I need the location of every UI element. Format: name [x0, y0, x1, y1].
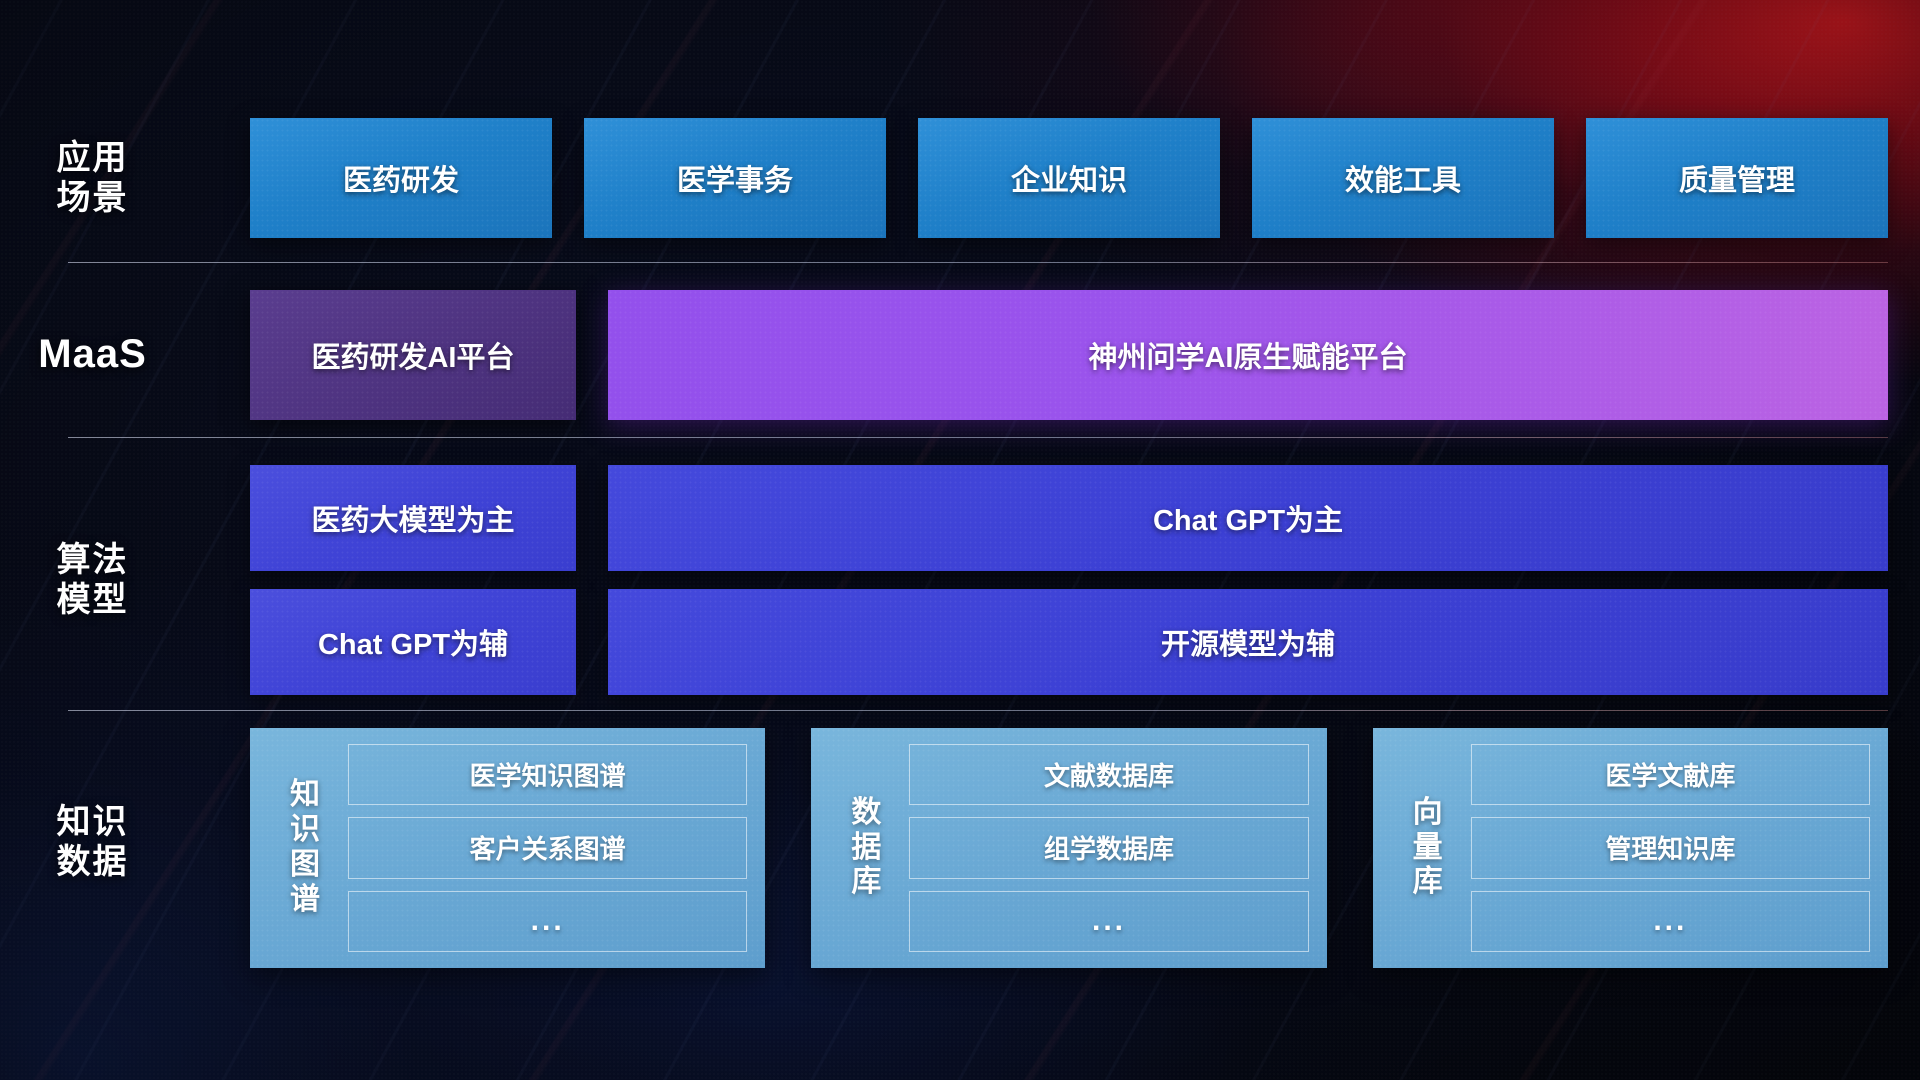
- knowledge-group-database-label: 数 据 库: [829, 744, 903, 952]
- algorithm-line-secondary: Chat GPT为辅 开源模型为辅: [250, 589, 1888, 695]
- row-label-maas: MaaS: [0, 290, 185, 420]
- label-char-1: 知: [290, 778, 320, 813]
- knowledge-item-medical-graph[interactable]: 医学知识图谱: [348, 744, 747, 805]
- knowledge-group-vector-items: 医学文献库 管理知识库 ...: [1465, 744, 1870, 952]
- maas-card-pharma-ai-platform[interactable]: 医药研发AI平台: [250, 290, 576, 420]
- algorithm-line-primary: 医药大模型为主 Chat GPT为主: [250, 465, 1888, 571]
- knowledge-item-omics-db[interactable]: 组学数据库: [909, 817, 1308, 878]
- row-knowledge-data: 知识 数据 知 识 图 谱 医学知识图谱 客户关系图谱 ...: [0, 718, 1920, 966]
- row-label-line-1: 知识: [57, 802, 129, 842]
- row-label-line-2: 模型: [57, 580, 129, 620]
- row-label-algorithm-models: 算法 模型: [0, 465, 185, 695]
- architecture-diagram: 应用 场景 医药研发 医学事务 企业知识 效能工具 质量管理 MaaS 医药研发…: [0, 0, 1920, 1080]
- row-application-scenarios: 应用 场景 医药研发 医学事务 企业知识 效能工具 质量管理: [0, 118, 1920, 238]
- label-char-2: 据: [851, 831, 881, 866]
- knowledge-group-graph-items: 医学知识图谱 客户关系图谱 ...: [342, 744, 747, 952]
- row-label-line-2: 数据: [57, 842, 129, 882]
- maas-card-shenzhou-wenxue[interactable]: 神州问学AI原生赋能平台: [608, 290, 1888, 420]
- row-maas: MaaS 医药研发AI平台 神州问学AI原生赋能平台: [0, 290, 1920, 420]
- knowledge-group-vector-label: 向 量 库: [1391, 744, 1465, 952]
- algorithm-card-track: 医药大模型为主 Chat GPT为主 Chat GPT为辅 开源模型为辅: [250, 465, 1888, 695]
- app-card-medical-affairs[interactable]: 医学事务: [584, 118, 886, 238]
- knowledge-item-medical-literature[interactable]: 医学文献库: [1471, 744, 1870, 805]
- algo-card-chatgpt-secondary[interactable]: Chat GPT为辅: [250, 589, 576, 695]
- knowledge-item-more[interactable]: ...: [348, 891, 747, 952]
- app-card-quality-management[interactable]: 质量管理: [1586, 118, 1888, 238]
- algo-card-chatgpt-primary[interactable]: Chat GPT为主: [608, 465, 1888, 571]
- maas-card-track: 医药研发AI平台 神州问学AI原生赋能平台: [250, 290, 1888, 420]
- label-char-3: 库: [1413, 865, 1443, 900]
- knowledge-group-graph-label: 知 识 图 谱: [268, 744, 342, 952]
- row-label-knowledge-data: 知识 数据: [0, 718, 185, 966]
- knowledge-item-literature-db[interactable]: 文献数据库: [909, 744, 1308, 805]
- knowledge-item-more[interactable]: ...: [909, 891, 1308, 952]
- label-char-1: 数: [851, 796, 881, 831]
- knowledge-item-customer-graph[interactable]: 客户关系图谱: [348, 817, 747, 878]
- knowledge-group-vector[interactable]: 向 量 库 医学文献库 管理知识库 ...: [1373, 728, 1888, 968]
- label-char-4: 谱: [290, 883, 320, 918]
- divider-algo-knowledge: [68, 710, 1888, 711]
- divider-maas-algo: [68, 437, 1888, 438]
- label-char-2: 识: [290, 813, 320, 848]
- divider-apps-maas: [68, 262, 1888, 263]
- label-char-3: 库: [851, 865, 881, 900]
- knowledge-item-more[interactable]: ...: [1471, 891, 1870, 952]
- label-char-3: 图: [290, 848, 320, 883]
- row-label-maas-text: MaaS: [38, 331, 147, 378]
- label-char-2: 量: [1413, 831, 1443, 866]
- label-char-1: 向: [1413, 796, 1443, 831]
- row-label-line-1: 应用: [57, 138, 129, 178]
- application-card-track: 医药研发 医学事务 企业知识 效能工具 质量管理: [250, 118, 1888, 238]
- app-card-medical-rd[interactable]: 医药研发: [250, 118, 552, 238]
- app-card-efficiency-tools[interactable]: 效能工具: [1252, 118, 1554, 238]
- algo-card-pharma-llm-primary[interactable]: 医药大模型为主: [250, 465, 576, 571]
- app-card-enterprise-knowledge[interactable]: 企业知识: [918, 118, 1220, 238]
- knowledge-group-track: 知 识 图 谱 医学知识图谱 客户关系图谱 ... 数 据 库: [250, 728, 1888, 968]
- knowledge-group-graph[interactable]: 知 识 图 谱 医学知识图谱 客户关系图谱 ...: [250, 728, 765, 968]
- knowledge-group-database-items: 文献数据库 组学数据库 ...: [903, 744, 1308, 952]
- algo-card-opensource-secondary[interactable]: 开源模型为辅: [608, 589, 1888, 695]
- row-algorithm-models: 算法 模型 医药大模型为主 Chat GPT为主 Chat GPT为辅 开源模型…: [0, 465, 1920, 695]
- row-label-line-1: 算法: [57, 540, 129, 580]
- knowledge-group-database[interactable]: 数 据 库 文献数据库 组学数据库 ...: [811, 728, 1326, 968]
- knowledge-item-management-kb[interactable]: 管理知识库: [1471, 817, 1870, 878]
- row-label-application-scenarios: 应用 场景: [0, 118, 185, 238]
- row-label-line-2: 场景: [57, 178, 129, 218]
